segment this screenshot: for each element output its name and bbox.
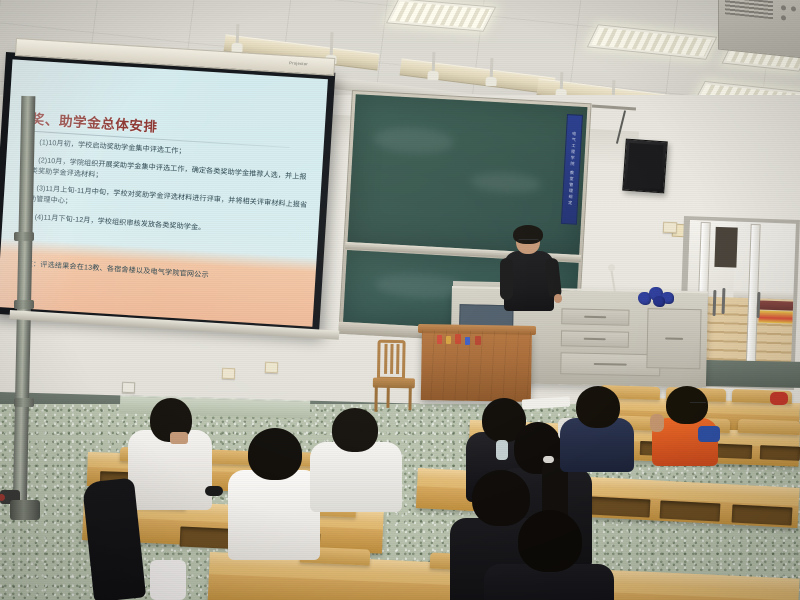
projector-brand-label: Projector <box>289 60 308 66</box>
seat-backrest <box>738 419 800 435</box>
pipe-joint <box>14 232 34 241</box>
light-hanger-rod <box>330 32 334 60</box>
presenter <box>498 228 560 310</box>
lectern-item <box>446 336 451 344</box>
glasses <box>690 402 706 406</box>
desk-cubby <box>660 500 721 521</box>
hair-clip <box>543 456 554 463</box>
lectern-item <box>475 336 481 345</box>
student <box>484 510 614 600</box>
wall-socket[interactable] <box>265 362 278 373</box>
desk-drawer[interactable] <box>561 330 629 347</box>
red-item <box>770 392 788 405</box>
light-hanger-rod <box>432 52 436 76</box>
shirt-sleeve <box>698 426 720 442</box>
student-shorts <box>150 560 186 600</box>
classroom-photo-scene: 电气工程学院 教室管理规定 奖、助学金总体安排 (1)10月初，学校启动奖助学金… <box>0 0 800 600</box>
slide-content: 奖、助学金总体安排 (1)10月初，学校启动奖助学金集中评选工作； (2)10月… <box>0 59 328 326</box>
student <box>652 386 718 456</box>
desk-cubby <box>732 504 793 525</box>
wall-socket[interactable] <box>222 368 235 379</box>
hand <box>650 414 664 432</box>
lectern-item <box>437 335 442 344</box>
blue-decoration <box>636 286 680 308</box>
desk-cubby <box>760 445 800 461</box>
student <box>560 386 634 464</box>
student <box>228 428 320 548</box>
lectern-item <box>465 337 470 345</box>
air-conditioner-unit <box>718 0 800 59</box>
pipe-base <box>10 500 40 520</box>
wooden-chair <box>372 340 415 413</box>
water-bottle <box>496 440 508 460</box>
student <box>310 408 402 504</box>
student <box>128 398 212 508</box>
desk-drawer[interactable] <box>561 308 629 325</box>
light-hanger-rod <box>236 24 240 48</box>
light-hanger-rod <box>490 58 494 82</box>
slide-note: 注：评选结果会在13教、各宿舍楼以及电气学院官网公示 <box>25 259 303 286</box>
desk-cabinet-door[interactable] <box>646 308 701 369</box>
pipe-joint <box>14 398 34 407</box>
pipe-joint <box>14 300 34 309</box>
wall-socket[interactable] <box>663 222 677 233</box>
lectern-item <box>455 334 461 344</box>
light-hanger-rod <box>560 72 564 94</box>
projection-screen: 奖、助学金总体安排 (1)10月初，学校启动奖助学金集中评选工作； (2)10月… <box>0 52 335 334</box>
mouse-device <box>205 486 223 496</box>
wall-speaker-box <box>622 139 668 194</box>
glasses <box>518 239 539 243</box>
slide-bullet-list: (1)10月初，学校启动奖助学金集中评选工作； (2)10月，学院组织开展奖助学… <box>20 136 311 246</box>
banner-text: 电气工程学院 教室管理规定 <box>567 132 578 207</box>
wall-socket[interactable] <box>122 382 135 393</box>
